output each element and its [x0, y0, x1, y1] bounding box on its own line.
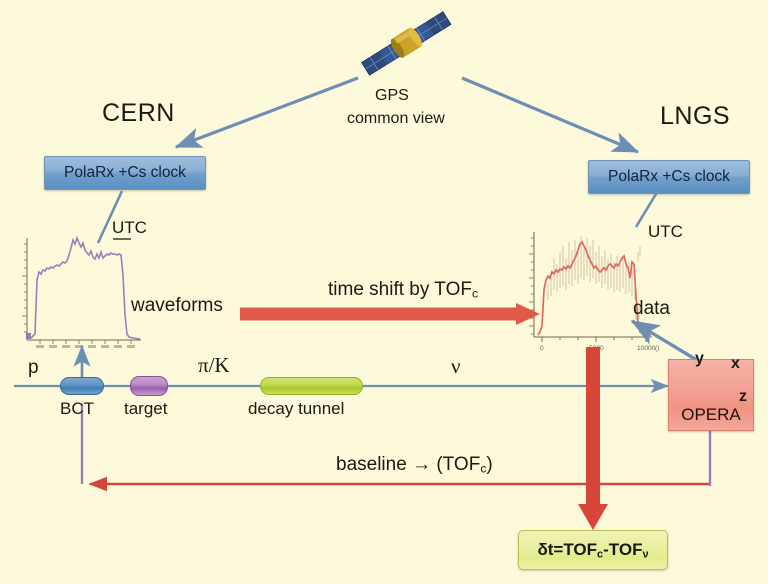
satellite-icon	[356, 4, 456, 82]
arrow-gps-to-cern-clock	[176, 78, 358, 147]
waveforms-label: waveforms	[131, 296, 223, 316]
beam-element-bct-label: BCT	[60, 400, 94, 418]
result-formula: δt=TOFc-TOFν	[537, 540, 648, 560]
result-minus: -TOF	[603, 540, 642, 559]
utc-label-cern: UTC	[112, 219, 147, 237]
beam-element-target[interactable]	[130, 376, 168, 396]
clock-box-lngs-label: PolaRx +Cs clock	[608, 168, 730, 186]
baseline-text: baseline	[336, 454, 412, 475]
beam-element-bct[interactable]	[60, 377, 104, 395]
pion-kaon-label: π/K	[198, 354, 230, 376]
svg-text:10000: 10000	[637, 345, 656, 352]
result-prefix: δt=TOF	[537, 540, 597, 559]
beam-element-target-label: target	[124, 400, 167, 418]
chart-lngs-shifted-waveform: 0 5000 10000 ()	[529, 232, 659, 352]
utc-label-lngs: UTC	[648, 223, 683, 241]
arrow-to-result	[578, 347, 608, 530]
baseline-label: baseline → (TOFc)	[336, 455, 493, 475]
site-label-cern: CERN	[102, 100, 175, 126]
baseline-paren: )	[486, 454, 492, 475]
result-box[interactable]: δt=TOFc-TOFν	[518, 530, 668, 570]
neutrino-label: ν	[451, 355, 461, 377]
clock-box-cern-label: PolaRx +Cs clock	[64, 164, 186, 182]
baseline-suffix-text: (TOF	[431, 454, 480, 475]
axis-label-y: y	[695, 351, 704, 368]
diagram-canvas: 0 5000 10000 ()	[0, 0, 768, 584]
arrow-data-to-plot	[632, 321, 700, 362]
data-label: data	[633, 299, 670, 319]
result-subscript-nu: ν	[642, 548, 648, 560]
gps-label-line2: common view	[347, 111, 445, 128]
site-label-lngs: LNGS	[660, 103, 730, 129]
baseline-arrow-glyph: →	[412, 454, 431, 475]
axis-label-z: z	[739, 389, 747, 406]
svg-text:0: 0	[540, 345, 544, 352]
axis-label-x: x	[731, 356, 740, 373]
clock-box-cern[interactable]: PolaRx +Cs clock	[44, 156, 206, 190]
chart-cern-proton-waveform	[22, 238, 141, 348]
beam-element-decay-tunnel-label: decay tunnel	[248, 400, 344, 418]
arrow-time-shift-by-tof	[240, 303, 540, 325]
beam-element-decay-tunnel[interactable]	[260, 377, 363, 395]
svg-text:(): ()	[655, 345, 659, 352]
time-shift-text: time shift by TOF	[328, 279, 472, 300]
proton-label: p	[28, 358, 39, 378]
arrow-gps-to-lngs-clock	[462, 78, 638, 152]
clock-box-lngs[interactable]: PolaRx +Cs clock	[588, 160, 750, 194]
time-shift-subscript: c	[472, 287, 478, 301]
gps-label-line1: GPS	[375, 88, 409, 105]
opera-detector-label: OPERA	[669, 405, 753, 425]
time-shift-label: time shift by TOFc	[328, 280, 478, 300]
